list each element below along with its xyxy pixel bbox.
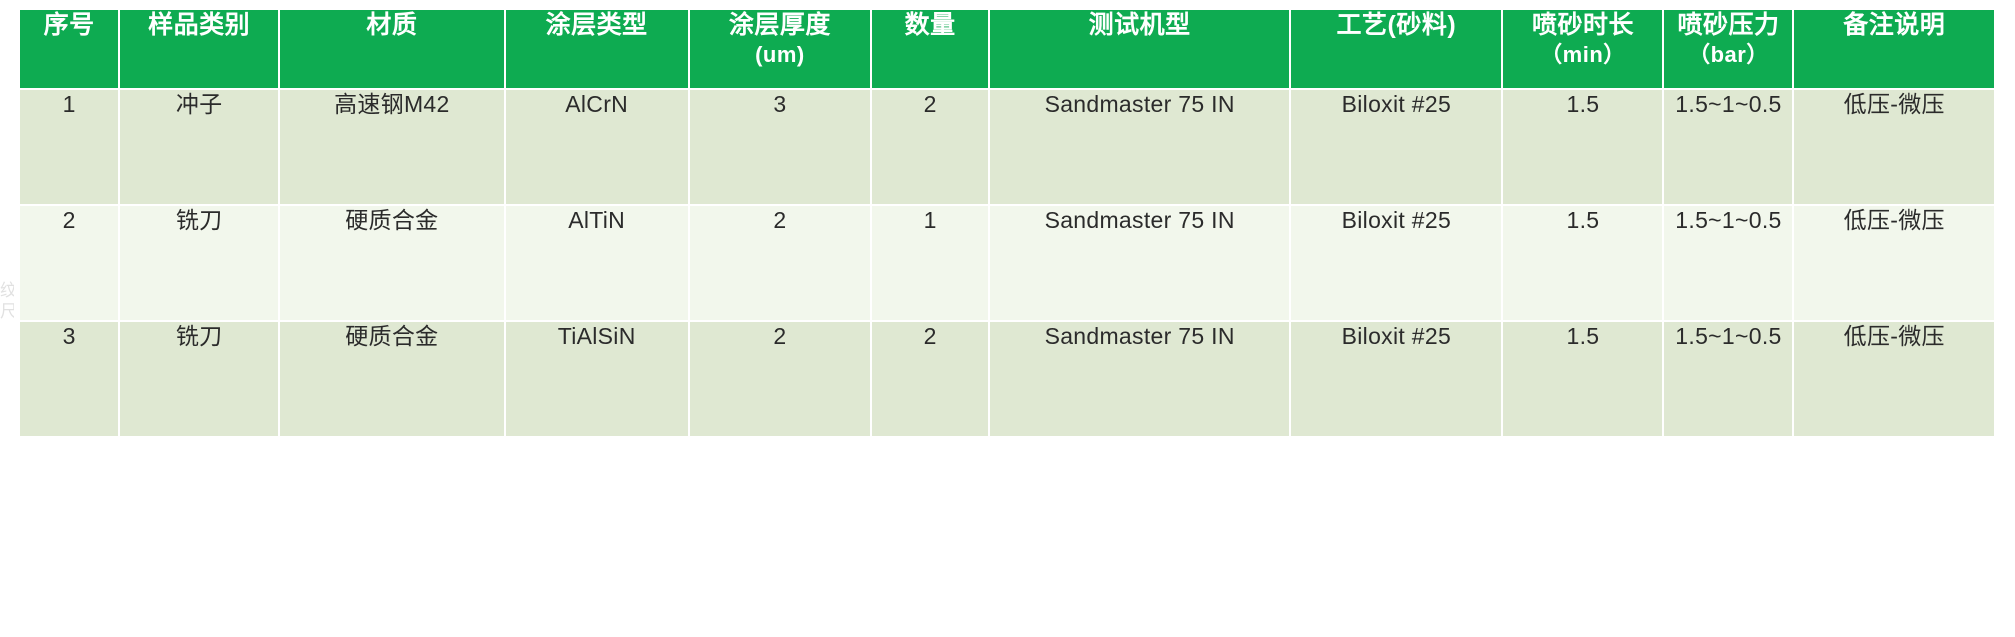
cell-quantity[interactable]: 2 [872, 322, 988, 436]
cell-coating-thickness[interactable]: 2 [690, 322, 871, 436]
table-body: 1 冲子 高速钢M42 AlCrN 3 2 Sandmaster 75 IN B… [20, 90, 1994, 436]
cell-blasting-pressure[interactable]: 1.5~1~0.5 [1664, 206, 1792, 320]
cell-blasting-duration[interactable]: 1.5 [1503, 90, 1662, 204]
column-header-material[interactable]: 材质 [280, 10, 504, 88]
column-header-label: 样品类别 [148, 11, 250, 39]
column-header-unit: (um) [690, 40, 871, 69]
column-header-remarks[interactable]: 备注说明 [1794, 10, 1994, 88]
column-header-label: 喷砂时长 [1532, 11, 1634, 39]
cell-blasting-duration[interactable]: 1.5 [1503, 322, 1662, 436]
cell-process-media[interactable]: Biloxit #25 [1291, 206, 1501, 320]
column-header-quantity[interactable]: 数量 [872, 10, 988, 88]
cell-sample-category[interactable]: 冲子 [120, 90, 278, 204]
column-header-test-machine[interactable]: 测试机型 [990, 10, 1289, 88]
cell-process-media[interactable]: Biloxit #25 [1291, 90, 1501, 204]
cell-remarks[interactable]: 低压-微压 [1794, 206, 1994, 320]
cell-index[interactable]: 2 [20, 206, 118, 320]
cell-material[interactable]: 硬质合金 [280, 206, 504, 320]
cell-quantity[interactable]: 2 [872, 90, 988, 204]
column-header-blasting-pressure[interactable]: 喷砂压力 （bar） [1664, 10, 1792, 88]
cell-test-machine[interactable]: Sandmaster 75 IN [990, 322, 1289, 436]
left-margin-artifact: 纹 尺 [0, 280, 14, 370]
column-header-index[interactable]: 序号 [20, 10, 118, 88]
column-header-coating-type[interactable]: 涂层类型 [506, 10, 688, 88]
column-header-label: 材质 [366, 11, 417, 39]
column-header-label: 工艺(砂料) [1337, 11, 1457, 39]
cell-coating-type[interactable]: TiAlSiN [506, 322, 688, 436]
cell-blasting-pressure[interactable]: 1.5~1~0.5 [1664, 90, 1792, 204]
column-header-unit: （min） [1503, 40, 1662, 69]
cell-test-machine[interactable]: Sandmaster 75 IN [990, 206, 1289, 320]
cell-test-machine[interactable]: Sandmaster 75 IN [990, 90, 1289, 204]
table-header: 序号 样品类别 材质 涂层类型 涂层厚度 (um) 数量 [20, 10, 1994, 88]
cell-remarks[interactable]: 低压-微压 [1794, 90, 1994, 204]
cell-index[interactable]: 1 [20, 90, 118, 204]
table-row[interactable]: 2 铣刀 硬质合金 AlTiN 2 1 Sandmaster 75 IN Bil… [20, 206, 1994, 320]
cell-blasting-pressure[interactable]: 1.5~1~0.5 [1664, 322, 1792, 436]
column-header-label: 涂层厚度 [729, 11, 831, 39]
sample-process-table: 序号 样品类别 材质 涂层类型 涂层厚度 (um) 数量 [18, 8, 1996, 438]
cell-coating-thickness[interactable]: 3 [690, 90, 871, 204]
cell-sample-category[interactable]: 铣刀 [120, 322, 278, 436]
column-header-label: 测试机型 [1089, 11, 1191, 39]
cell-coating-type[interactable]: AlCrN [506, 90, 688, 204]
column-header-label: 序号 [44, 11, 95, 39]
column-header-label: 备注说明 [1843, 11, 1945, 39]
cell-coating-type[interactable]: AlTiN [506, 206, 688, 320]
cell-material[interactable]: 硬质合金 [280, 322, 504, 436]
column-header-label: 喷砂压力 [1677, 11, 1779, 39]
cell-quantity[interactable]: 1 [872, 206, 988, 320]
column-header-label: 涂层类型 [546, 11, 648, 39]
column-header-label: 数量 [905, 11, 956, 39]
table-row[interactable]: 1 冲子 高速钢M42 AlCrN 3 2 Sandmaster 75 IN B… [20, 90, 1994, 204]
column-header-unit: （bar） [1664, 40, 1792, 69]
header-row: 序号 样品类别 材质 涂层类型 涂层厚度 (um) 数量 [20, 10, 1994, 88]
column-header-coating-thickness[interactable]: 涂层厚度 (um) [690, 10, 871, 88]
table-row[interactable]: 3 铣刀 硬质合金 TiAlSiN 2 2 Sandmaster 75 IN B… [20, 322, 1994, 436]
cell-material[interactable]: 高速钢M42 [280, 90, 504, 204]
column-header-process-media[interactable]: 工艺(砂料) [1291, 10, 1501, 88]
column-header-blasting-duration[interactable]: 喷砂时长 （min） [1503, 10, 1662, 88]
cell-sample-category[interactable]: 铣刀 [120, 206, 278, 320]
spreadsheet-canvas: 纹 尺 序号 样品类别 材质 涂层类型 涂层厚度 [0, 0, 2015, 637]
cell-remarks[interactable]: 低压-微压 [1794, 322, 1994, 436]
cell-blasting-duration[interactable]: 1.5 [1503, 206, 1662, 320]
cell-coating-thickness[interactable]: 2 [690, 206, 871, 320]
cell-process-media[interactable]: Biloxit #25 [1291, 322, 1501, 436]
column-header-sample-category[interactable]: 样品类别 [120, 10, 278, 88]
cell-index[interactable]: 3 [20, 322, 118, 436]
